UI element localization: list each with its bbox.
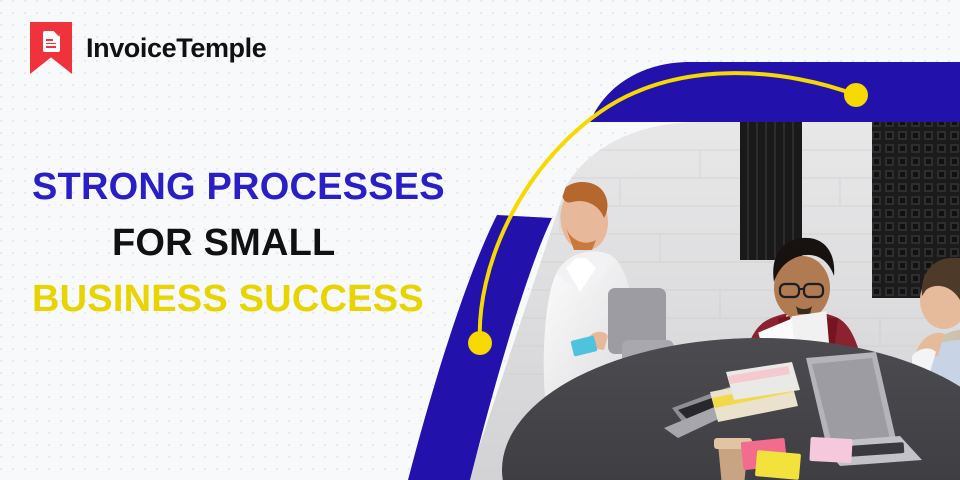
bookmark-document-icon: [30, 22, 72, 74]
document-glyph: [43, 31, 60, 52]
headline-block: STRONG PROCESSES FOR SMALL BUSINESS SUCC…: [32, 168, 445, 318]
yellow-dot-bottom-left: [468, 331, 492, 355]
brand-name: InvoiceTemple: [86, 33, 266, 64]
promo-banner: InvoiceTemple STRONG PROCESSES FOR SMALL…: [0, 0, 960, 480]
headline-line-1: STRONG PROCESSES: [32, 168, 445, 206]
headline-line-2: FOR SMALL: [112, 224, 445, 262]
yellow-dot-top-right: [844, 83, 868, 107]
brand-logo[interactable]: InvoiceTemple: [30, 22, 266, 74]
blue-top-band: [590, 62, 960, 122]
headline-line-3: BUSINESS SUCCESS: [32, 280, 445, 318]
radiator: [740, 110, 802, 260]
